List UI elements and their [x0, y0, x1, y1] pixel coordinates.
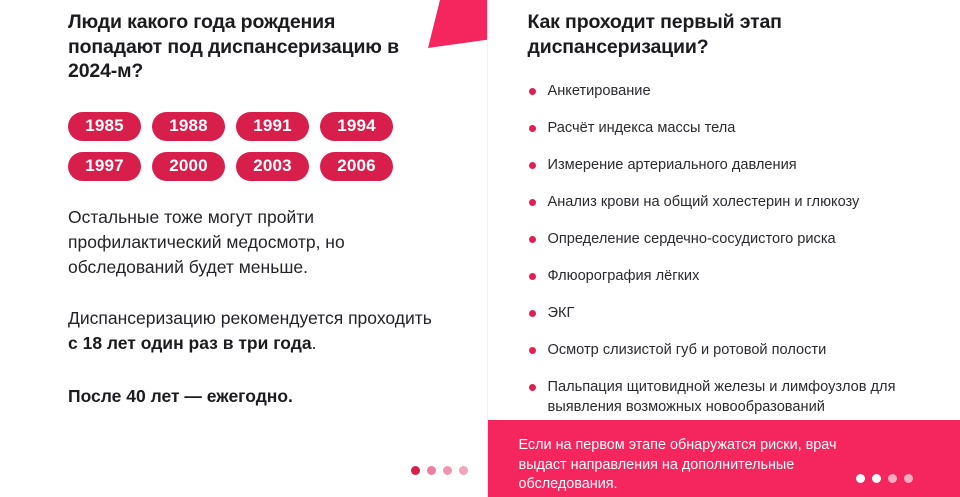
birth-year-pills: 1985 1988 1991 1994 1997 2000 2003 2006: [68, 112, 487, 181]
pagination-dot[interactable]: [856, 474, 865, 483]
list-item-label: Пальпация щитовидной железы и лимфоузлов…: [548, 379, 896, 415]
risk-notice-banner: Если на первом этапе обнаружатся риски, …: [488, 420, 960, 497]
pagination-dot[interactable]: [872, 474, 881, 483]
list-item-label: ЭКГ: [548, 305, 575, 321]
list-item: Осмотр слизистой губ и ротовой полости: [528, 340, 918, 360]
right-content: Как проходит первый этап диспансеризации…: [488, 0, 960, 417]
frequency-emphasis-text: с 18 лет один раз в три года: [68, 333, 312, 353]
left-paragraph-after-forty: После 40 лет — ежегодно.: [68, 384, 440, 409]
bullet-dot-icon: [529, 236, 536, 243]
list-item-label: Измерение артериального давления: [548, 157, 797, 173]
list-item: Флюорография лёгких: [528, 266, 918, 286]
first-stage-checklist: Анкетирование Расчёт индекса массы тела …: [528, 81, 960, 417]
year-pill: 1991: [236, 112, 309, 141]
right-panel: Как проходит первый этап диспансеризации…: [488, 0, 960, 497]
left-heading: Люди какого года рождения попадают под д…: [68, 10, 408, 84]
frequency-lead-text: Диспансеризацию рекомендуется проходить: [68, 308, 432, 328]
list-item-label: Определение сердечно-сосудистого риска: [548, 231, 836, 247]
bullet-dot-icon: [529, 162, 536, 169]
list-item-label: Расчёт индекса массы тела: [548, 120, 736, 136]
year-pill: 1994: [320, 112, 393, 141]
pagination-dot[interactable]: [443, 466, 452, 475]
infographic-poster: Люди какого года рождения попадают под д…: [0, 0, 960, 497]
year-pill: 2006: [320, 152, 393, 181]
frequency-tail-text: .: [312, 333, 317, 353]
list-item-label: Флюорография лёгких: [548, 268, 700, 284]
year-pill: 1985: [68, 112, 141, 141]
year-pill: 1988: [152, 112, 225, 141]
list-item: Пальпация щитовидной железы и лимфоузлов…: [528, 377, 918, 417]
left-paragraph-frequency: Диспансеризацию рекомендуется проходить …: [68, 306, 440, 356]
bullet-dot-icon: [529, 384, 536, 391]
pagination-dot[interactable]: [427, 466, 436, 475]
list-item: Анкетирование: [528, 81, 918, 101]
year-pill: 2000: [152, 152, 225, 181]
pagination-dots-right[interactable]: [856, 474, 913, 483]
pagination-dots-left[interactable]: [411, 466, 468, 475]
list-item: Измерение артериального давления: [528, 155, 918, 175]
bullet-dot-icon: [529, 199, 536, 206]
left-content: Люди какого года рождения попадают под д…: [0, 0, 487, 409]
pagination-dot[interactable]: [411, 466, 420, 475]
bullet-dot-icon: [529, 125, 536, 132]
right-heading: Как проходит первый этап диспансеризации…: [528, 10, 858, 59]
list-item: Расчёт индекса массы тела: [528, 118, 918, 138]
birth-year-row-2: 1997 2000 2003 2006: [68, 152, 487, 181]
list-item-label: Осмотр слизистой губ и ротовой полости: [548, 342, 827, 358]
bullet-dot-icon: [529, 310, 536, 317]
year-pill: 2003: [236, 152, 309, 181]
list-item: Анализ крови на общий холестерин и глюко…: [528, 192, 918, 212]
bullet-dot-icon: [529, 347, 536, 354]
birth-year-row-1: 1985 1988 1991 1994: [68, 112, 487, 141]
bullet-dot-icon: [529, 273, 536, 280]
pagination-dot[interactable]: [888, 474, 897, 483]
bullet-dot-icon: [529, 88, 536, 95]
left-paragraph-preventive-checkup: Остальные тоже могут пройти профилактиче…: [68, 205, 440, 280]
list-item: Определение сердечно-сосудистого риска: [528, 229, 918, 249]
pagination-dot[interactable]: [459, 466, 468, 475]
year-pill: 1997: [68, 152, 141, 181]
risk-notice-text: Если на первом этапе обнаружатся риски, …: [519, 436, 864, 495]
left-panel: Люди какого года рождения попадают под д…: [0, 0, 488, 497]
list-item-label: Анкетирование: [548, 83, 651, 99]
list-item-label: Анализ крови на общий холестерин и глюко…: [548, 194, 860, 210]
pagination-dot[interactable]: [904, 474, 913, 483]
list-item: ЭКГ: [528, 303, 918, 323]
